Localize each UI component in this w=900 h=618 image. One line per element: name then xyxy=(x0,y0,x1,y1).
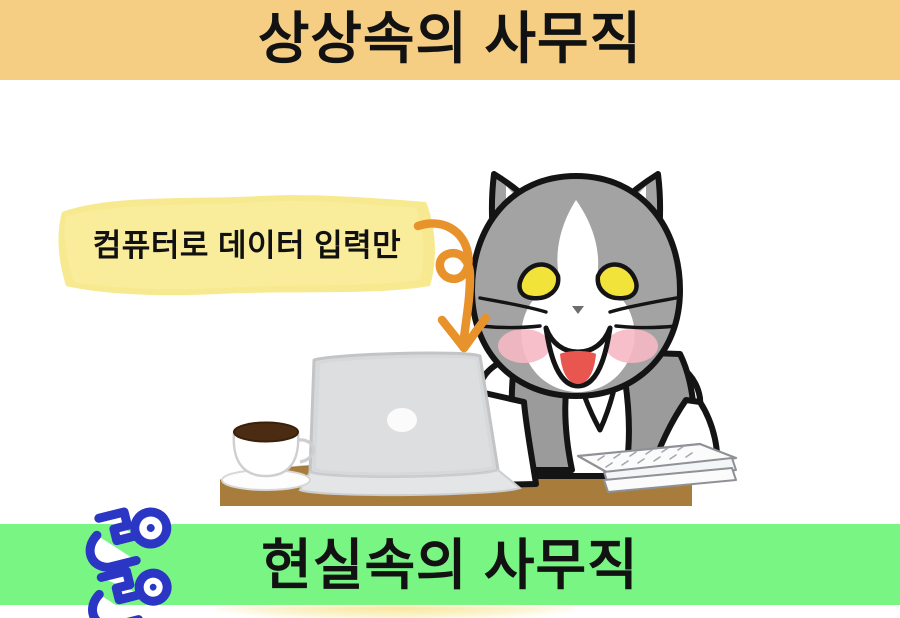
curly-down-arrow-icon xyxy=(412,212,508,358)
laptop-logo xyxy=(387,408,417,432)
next-panel-highlight-peek xyxy=(215,606,575,618)
coffee-liquid xyxy=(234,423,298,442)
cat-eye-left xyxy=(520,265,559,299)
coffee-cup-object xyxy=(222,423,313,491)
blue-decorative-glyph xyxy=(74,503,194,618)
top-banner-title: 상상속의 사무직 xyxy=(258,11,642,67)
cat-cheek-right xyxy=(606,329,658,363)
top-banner: 상상속의 사무직 xyxy=(0,0,900,80)
caption-callout: 컴퓨터로 데이터 입력만 xyxy=(52,186,442,304)
cat-eye-right xyxy=(598,265,637,299)
bottom-banner-title: 현실속의 사무직 xyxy=(261,538,638,593)
meme-image: 상상속의 사무직 xyxy=(0,0,900,618)
caption-text: 컴퓨터로 데이터 입력만 xyxy=(62,230,432,261)
